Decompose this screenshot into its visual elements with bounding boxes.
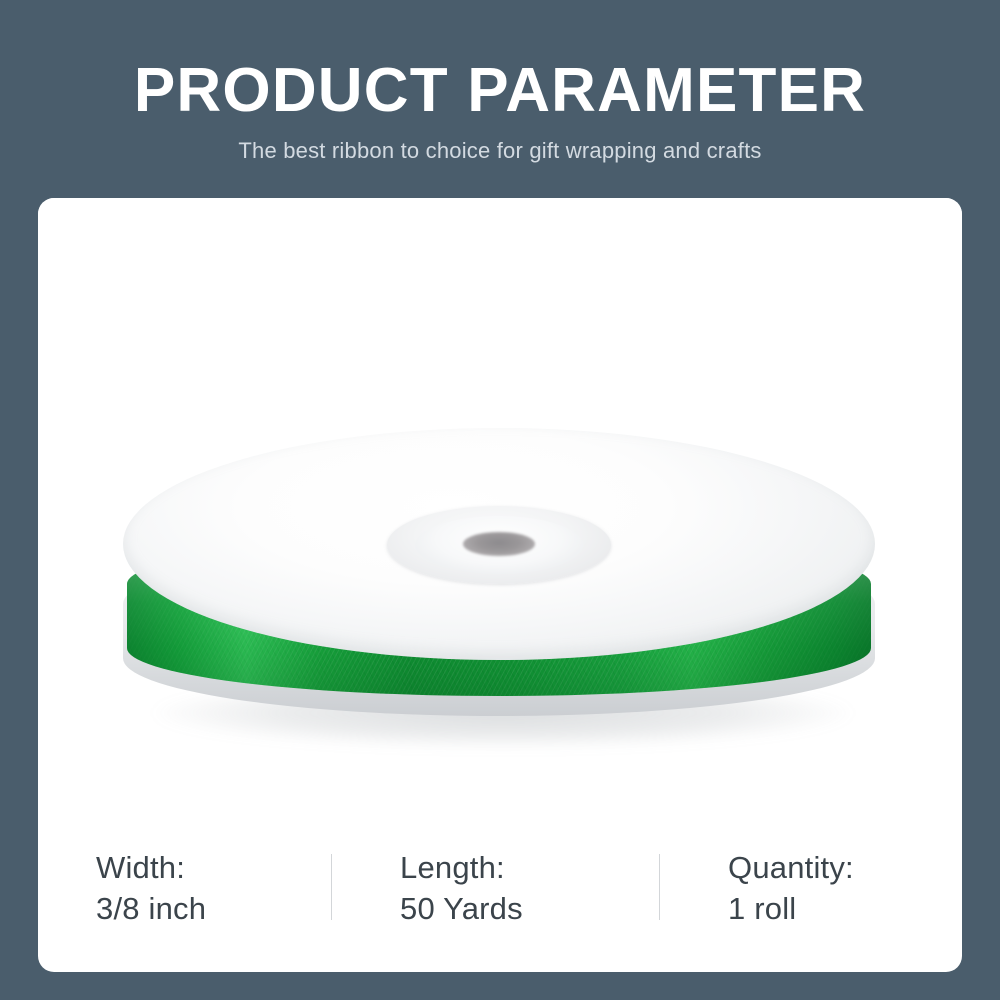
parameter-item-quantity: Quantity: 1 roll (666, 818, 962, 930)
page-title: PRODUCT PARAMETER (0, 56, 1000, 126)
parameter-item-width: Width: 3/8 inch (38, 818, 338, 930)
product-image (38, 198, 962, 818)
spool-center-hole (463, 532, 535, 556)
parameter-value-width: 3/8 inch (96, 888, 338, 930)
product-parameter-page: PRODUCT PARAMETER The best ribbon to cho… (0, 0, 1000, 1000)
parameter-divider-2 (659, 854, 660, 920)
parameter-value-length: 50 Yards (400, 888, 666, 930)
parameter-label-quantity: Quantity: (728, 848, 962, 888)
ribbon-spool (123, 428, 875, 758)
content-card: Width: 3/8 inch Length: 50 Yards Quantit… (38, 198, 962, 972)
page-subtitle: The best ribbon to choice for gift wrapp… (0, 136, 1000, 166)
parameter-divider-1 (331, 854, 332, 920)
header: PRODUCT PARAMETER The best ribbon to cho… (0, 0, 1000, 198)
parameter-label-width: Width: (96, 848, 338, 888)
parameter-list: Width: 3/8 inch Length: 50 Yards Quantit… (38, 818, 962, 972)
parameter-value-quantity: 1 roll (728, 888, 962, 930)
parameter-item-length: Length: 50 Yards (338, 818, 666, 930)
parameter-label-length: Length: (400, 848, 666, 888)
